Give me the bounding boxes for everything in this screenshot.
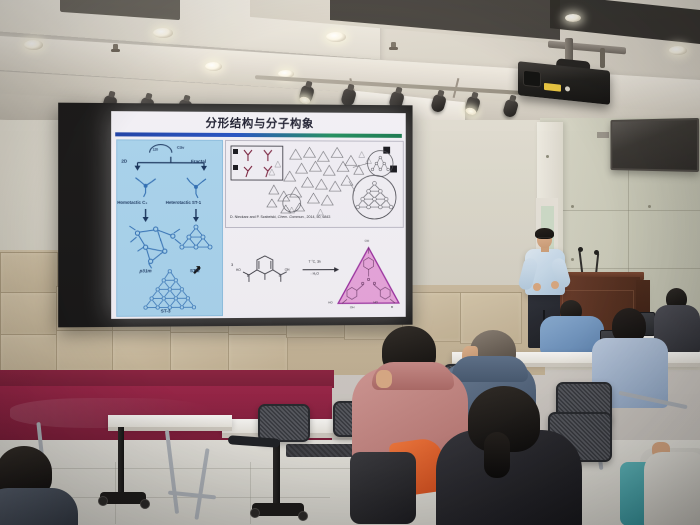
reagent-boron-right: B <box>279 274 281 278</box>
ponytail <box>484 432 510 478</box>
slide-structure-st2: ST-2 <box>190 268 200 273</box>
desk-caster <box>250 508 260 518</box>
citation-ref: , 2014, 50, 6843 <box>305 215 331 219</box>
backpack <box>350 452 416 524</box>
tv-wall-bracket <box>597 132 609 138</box>
desk-caster <box>98 496 108 506</box>
slide-structure-st3: ST-3 <box>161 308 171 313</box>
wall-bolt <box>571 205 574 208</box>
audience-torso-grey-coat <box>644 452 700 525</box>
reaction-condition-bottom: - H₂O <box>310 272 318 276</box>
reagent-stoichiometry: 3 <box>231 262 233 267</box>
projector-label-badge <box>544 83 561 92</box>
product-label-oh-left: OH <box>350 305 354 309</box>
slide-node-2d: 2D <box>121 159 127 164</box>
wall-seam <box>563 268 700 269</box>
citation-authors: D. Nieckarz and P. Szabelski, <box>230 215 277 219</box>
speaker-glasses-icon <box>538 237 551 241</box>
slide-title-rule <box>115 132 402 138</box>
microphone-head-icon <box>594 250 599 255</box>
product-label-oh-right: B <box>391 305 393 309</box>
slide-right-bottom-panel: 3 HO OH B B T °C, 3h - H₂O OH HO HO OH B <box>225 230 402 314</box>
projector-lens-icon <box>523 70 541 88</box>
desk <box>108 415 232 427</box>
acoustic-panel <box>0 252 58 294</box>
slide-right-top-panel: D. Nieckarz and P. Szabelski, Chem. Comm… <box>225 140 404 228</box>
projector-mount-arm <box>600 48 605 68</box>
downlight <box>205 62 222 71</box>
projection-screen: 分形结构与分子构象 <box>58 103 412 328</box>
wall-bolt <box>546 155 549 158</box>
microphone-head-icon <box>578 247 583 252</box>
slide-citation: D. Nieckarz and P. Szabelski, Chem. Comm… <box>230 215 330 219</box>
downlight <box>565 14 581 22</box>
wall-bolt <box>571 258 574 261</box>
slide-left-panel: 2D Fractal 120 C3v Homotactic C₃ Heterot… <box>116 139 223 316</box>
sprinkler-head <box>113 44 118 51</box>
desk-edge <box>108 427 232 431</box>
fractal-scheme-diagram <box>117 140 222 315</box>
slide-node-fractal: Fractal <box>191 159 206 164</box>
reagent-label-ho: HO <box>236 268 241 272</box>
downlight <box>669 46 687 55</box>
lecture-hall-screenshot: 分形结构与分子构象 <box>0 0 700 525</box>
slide-branch-left-label: Homotactic C₃ <box>117 200 147 205</box>
wall-mounted-tv[interactable] <box>610 118 699 172</box>
acoustic-panel <box>56 330 114 372</box>
acoustic-panel <box>0 334 58 374</box>
desk-leg <box>118 427 124 499</box>
product-label-ho-left: HO <box>328 300 332 304</box>
sprinkler-head <box>391 42 396 49</box>
projector-indicator-icon <box>565 86 570 92</box>
acoustic-panel <box>228 334 288 372</box>
slide-symmetry-label: C3v <box>177 145 184 150</box>
product-label-oh-top: OH <box>365 239 369 243</box>
audience-hand <box>376 370 392 388</box>
reagent-boron-left: B <box>247 274 249 278</box>
desk-caster <box>298 511 308 521</box>
reagent-label-oh: OH <box>285 268 290 272</box>
wall-bolt <box>648 205 651 208</box>
slide-angle-label: 120 <box>153 148 158 152</box>
slide-branch-right-label: Heterotactic ST-1 <box>166 200 201 205</box>
wall-seam <box>563 210 700 211</box>
presentation-slide: 分形结构与分子构象 <box>111 111 406 319</box>
product-label-ho-right: HO <box>373 300 377 304</box>
speaker-left-hand <box>533 283 541 291</box>
downlight <box>153 28 173 38</box>
acoustic-panel <box>0 292 58 336</box>
acoustic-panel <box>170 332 230 372</box>
hoodie-hood <box>452 356 528 382</box>
desk-caster <box>140 499 150 509</box>
acoustic-panel <box>112 330 172 372</box>
chair-back[interactable] <box>258 404 310 442</box>
speaker-right-hand <box>551 281 559 289</box>
citation-journal: Chem. Commun. <box>278 215 305 219</box>
slide-structure-p31m: p31m <box>140 268 152 273</box>
downlight <box>326 32 346 42</box>
audience-torso <box>0 488 78 525</box>
reaction-condition-top: T °C, 3h <box>309 260 321 264</box>
downlight <box>24 40 43 50</box>
slide-title: 分形结构与分子构象 <box>111 114 406 132</box>
tile-grout-line <box>0 468 380 469</box>
